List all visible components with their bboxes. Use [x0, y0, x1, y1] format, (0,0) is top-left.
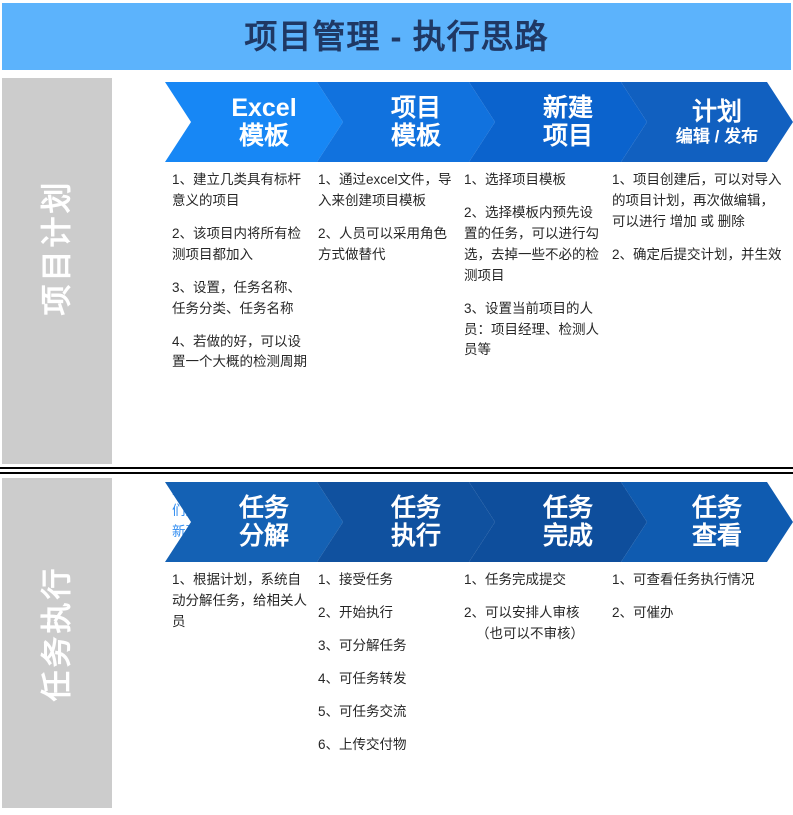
section-side-label-exec-text: 任务执行	[42, 565, 73, 701]
detail-item: 1、任务完成提交	[464, 570, 606, 591]
page-title-banner: 项目管理 - 执行思路	[2, 3, 791, 70]
detail-item: 2、开始执行	[318, 603, 458, 624]
section-side-label-plan: 项目计划	[2, 78, 112, 464]
detail-item: 2、人员可以采用角色方式做替代	[318, 224, 458, 266]
chevron-step-plan-4-line1: 计划	[692, 98, 742, 126]
chevron-step-exec-1-line2: 分解	[239, 522, 289, 550]
detail-item: 2、可催办	[612, 603, 784, 624]
detail-item: 1、项目创建后，可以对导入的项目计划，再次做编辑，可以进行 增加 或 删除	[612, 170, 784, 233]
section-side-label-exec: 任务执行	[2, 478, 112, 808]
chevron-step-plan-2[interactable]: 项目 模板	[317, 82, 495, 162]
chevron-row-plan: Excel 模板 项目 模板 新建 项目 计划 编辑 / 发布	[165, 82, 793, 162]
detail-item: 2、确定后提交计划，并生效	[612, 245, 784, 266]
detail-column-plan-4: 1、项目创建后，可以对导入的项目计划，再次做编辑，可以进行 增加 或 删除2、确…	[612, 170, 784, 278]
chevron-step-exec-4-title: 任务 查看	[692, 494, 742, 550]
chevron-step-exec-4-line2: 查看	[692, 522, 742, 550]
chevron-step-plan-3-title: 新建 项目	[543, 94, 593, 150]
detail-item: 3、设置当前项目的人员：项目经理、检测人员等	[464, 299, 606, 362]
chevron-step-plan-1[interactable]: Excel 模板	[165, 82, 343, 162]
chevron-step-plan-1-title: Excel 模板	[231, 94, 296, 150]
chevron-step-exec-3-line2: 完成	[543, 522, 593, 550]
detail-column-plan-3: 1、选择项目模板2、选择模板内预先设置的任务，可以进行勾选，去掉一些不必的检测项…	[464, 170, 606, 373]
section-task-execution: 任务执行 任务 分解 任务 执行 任务 完成 任务 查看	[0, 478, 793, 813]
chevron-step-exec-1-title: 任务 分解	[239, 494, 289, 550]
chevron-row-exec: 任务 分解 任务 执行 任务 完成 任务 查看	[165, 482, 793, 562]
detail-item: 4、若做的好，可以设置一个大概的检测周期	[172, 332, 312, 374]
chevron-step-plan-2-line1: 项目	[391, 94, 441, 122]
detail-item: 1、选择项目模板	[464, 170, 606, 191]
detail-column-exec-2: 1、接受任务2、开始执行3、可分解任务4、可任务转发5、可任务交流6、上传交付物	[318, 570, 458, 768]
chevron-step-plan-3[interactable]: 新建 项目	[469, 82, 647, 162]
chevron-step-exec-1[interactable]: 任务 分解	[165, 482, 343, 562]
detail-item: 2、可以安排人审核（也可以不审核）	[464, 603, 606, 645]
detail-item: 1、建立几类具有标杆意义的项目	[172, 170, 312, 212]
detail-column-exec-1: 1、根据计划，系统自动分解任务，给相关人员	[172, 570, 312, 645]
chevron-step-plan-2-title: 项目 模板	[391, 94, 441, 150]
section-side-label-plan-text: 项目计划	[42, 179, 73, 315]
section-divider-top-line	[0, 467, 793, 469]
chevron-step-exec-2-line1: 任务	[391, 494, 441, 522]
section-project-plan: 项目计划 Excel 模板 项目 模板 新建 项目 计划 编辑 / 发布	[0, 78, 793, 464]
detail-item: 1、通过excel文件，导入来创建项目模板	[318, 170, 458, 212]
chevron-step-exec-3-title: 任务 完成	[543, 494, 593, 550]
chevron-step-plan-2-line2: 模板	[391, 122, 441, 150]
detail-item: 1、接受任务	[318, 570, 458, 591]
chevron-step-exec-2-title: 任务 执行	[391, 494, 441, 550]
chevron-step-plan-3-line2: 项目	[543, 122, 593, 150]
detail-item: 6、上传交付物	[318, 735, 458, 756]
chevron-step-exec-2[interactable]: 任务 执行	[317, 482, 495, 562]
chevron-step-plan-4-title: 计划	[692, 98, 742, 126]
chevron-step-exec-3-line1: 任务	[543, 494, 593, 522]
chevron-step-exec-3[interactable]: 任务 完成	[469, 482, 647, 562]
detail-column-plan-1: 1、建立几类具有标杆意义的项目2、该项目内将所有检测项目都加入3、设置，任务名称…	[172, 170, 312, 385]
detail-item: 1、根据计划，系统自动分解任务，给相关人员	[172, 570, 312, 633]
chevron-step-plan-1-line2: 模板	[231, 122, 296, 150]
detail-column-exec-4: 1、可查看任务执行情况2、可催办	[612, 570, 784, 636]
chevron-step-plan-4-subtitle: 编辑 / 发布	[676, 127, 758, 147]
detail-item: 5、可任务交流	[318, 702, 458, 723]
detail-item: 2、选择模板内预先设置的任务，可以进行勾选，去掉一些不必的检测项目	[464, 203, 606, 287]
detail-column-exec-3: 1、任务完成提交2、可以安排人审核（也可以不审核）	[464, 570, 606, 657]
detail-item: 3、可分解任务	[318, 636, 458, 657]
chevron-step-plan-3-line1: 新建	[543, 94, 593, 122]
chevron-step-exec-2-line2: 执行	[391, 522, 441, 550]
detail-item: 4、可任务转发	[318, 669, 458, 690]
chevron-step-plan-1-line1: Excel	[231, 94, 296, 122]
detail-column-plan-2: 1、通过excel文件，导入来创建项目模板2、人员可以采用角色方式做替代	[318, 170, 458, 278]
section-divider-bottom-line	[0, 472, 793, 474]
chevron-step-exec-4-line1: 任务	[692, 494, 742, 522]
detail-item: 1、可查看任务执行情况	[612, 570, 784, 591]
detail-item: 2、该项目内将所有检测项目都加入	[172, 224, 312, 266]
detail-item: 3、设置，任务名称、任务分类、任务名称	[172, 278, 312, 320]
chevron-step-exec-1-line1: 任务	[239, 494, 289, 522]
page-title: 项目管理 - 执行思路	[244, 20, 548, 53]
